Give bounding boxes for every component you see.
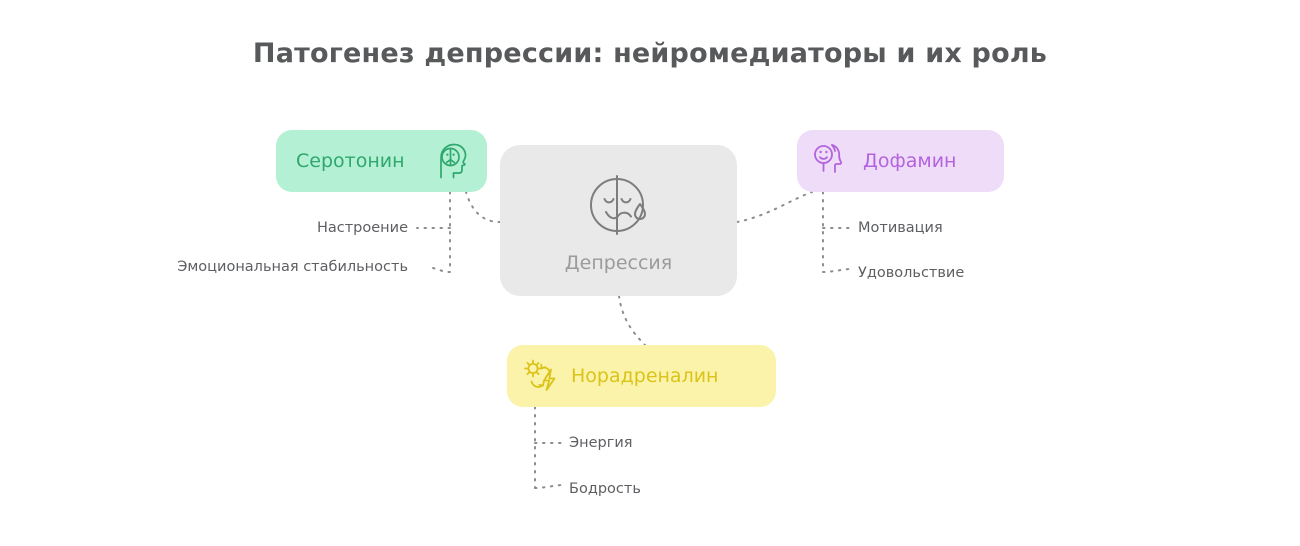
edge-serotonin-leaf-1 bbox=[428, 267, 450, 272]
sun-lightning-cycle-icon bbox=[521, 356, 563, 396]
leaf-dopamine-0: Мотивация bbox=[858, 220, 943, 236]
page-title: Патогенез депрессии: нейромедиаторы и их… bbox=[0, 38, 1300, 69]
node-noradrenaline-label: Норадреналин bbox=[571, 365, 718, 387]
leaf-noradrenaline-0: Энергия bbox=[569, 435, 633, 451]
node-depression-label: Депрессия bbox=[565, 252, 672, 274]
head-profile-face-icon bbox=[433, 141, 473, 181]
node-noradrenaline[interactable]: Норадреналин bbox=[507, 345, 776, 407]
edge-center-noradrenaline bbox=[619, 296, 645, 345]
node-serotonin-label: Серотонин bbox=[296, 150, 405, 172]
edge-noradrenaline-leaf-1 bbox=[535, 485, 561, 488]
leaf-dopamine-1: Удовольствие bbox=[858, 265, 964, 281]
leaf-serotonin-0: Настроение bbox=[213, 220, 408, 236]
node-dopamine[interactable]: Дофамин bbox=[797, 130, 1004, 192]
edge-center-dopamine bbox=[737, 192, 812, 222]
split-face-sad-happy-icon bbox=[582, 168, 656, 242]
leaf-serotonin-1: Эмоциональная стабильность bbox=[80, 259, 408, 275]
leaf-noradrenaline-1: Бодрость bbox=[569, 481, 641, 497]
edge-center-serotonin bbox=[466, 192, 500, 222]
edge-dopamine-leaf-1 bbox=[823, 269, 849, 272]
diagram-canvas: Патогенез депрессии: нейромедиаторы и их… bbox=[0, 0, 1300, 546]
smiley-head-profile-icon bbox=[811, 141, 853, 181]
node-serotonin[interactable]: Серотонин bbox=[276, 130, 487, 192]
node-depression[interactable]: Депрессия bbox=[500, 145, 737, 296]
node-dopamine-label: Дофамин bbox=[863, 150, 956, 172]
